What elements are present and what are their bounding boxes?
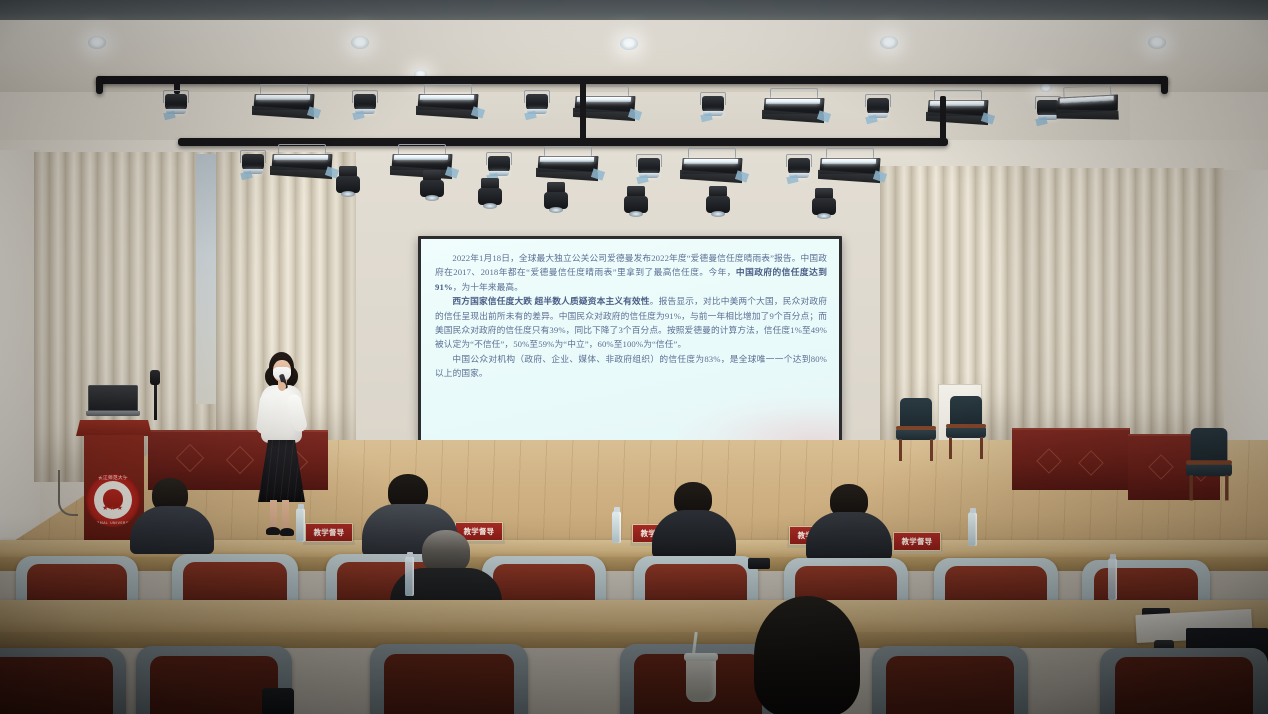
nameplate-stand bbox=[891, 551, 943, 554]
audience-member bbox=[806, 484, 892, 554]
slide-surface: 2022年1月18日，全球最大独立公关公司爱德曼发布2022年度“爱德曼信任度晴… bbox=[421, 239, 839, 441]
slide-paragraph: 2022年1月18日，全球最大独立公关公司爱德曼发布2022年度“爱德曼信任度晴… bbox=[435, 251, 827, 294]
nameplate-label: 教学督导 bbox=[314, 527, 345, 538]
flood-light-fixture bbox=[682, 152, 742, 182]
moving-head-fixture bbox=[812, 188, 836, 222]
spot-light-fixture bbox=[524, 88, 550, 118]
flood-light-fixture bbox=[820, 152, 880, 182]
downlight-icon bbox=[620, 37, 638, 50]
slide-text-run: 中国公众对机构（政府、企业、媒体、非政府组织）的信任度为83%，是全球唯一一个达… bbox=[435, 354, 827, 378]
water-bottle[interactable] bbox=[296, 508, 305, 542]
presenter-left-leg bbox=[270, 500, 277, 530]
downlight-icon bbox=[1040, 83, 1052, 92]
presenter-right-leg bbox=[282, 500, 289, 530]
presenter-left-shoe bbox=[266, 527, 280, 535]
foreground-attendee bbox=[726, 596, 886, 714]
podium-cable bbox=[58, 470, 78, 516]
water-bottle[interactable] bbox=[405, 556, 414, 596]
downlight-icon bbox=[1148, 36, 1166, 49]
presenter-hand bbox=[278, 382, 286, 391]
truss-riser bbox=[940, 96, 946, 142]
curtain-panel bbox=[1024, 168, 1224, 458]
spot-light-fixture bbox=[240, 148, 266, 178]
spot-light-fixture bbox=[700, 90, 726, 120]
audience-member bbox=[130, 478, 214, 550]
auditorium-seat[interactable] bbox=[0, 648, 126, 714]
flood-light-fixture bbox=[764, 92, 824, 122]
laptop-keyboard[interactable] bbox=[86, 411, 140, 416]
podium-top-surface bbox=[76, 420, 152, 436]
truss-riser bbox=[580, 82, 586, 140]
flood-light-fixture bbox=[254, 88, 314, 118]
truss-bar-upper bbox=[96, 76, 1168, 84]
flood-light-fixture bbox=[928, 94, 988, 124]
emblem-inner-disc: ★★★ bbox=[94, 481, 132, 519]
downlight-icon bbox=[351, 36, 369, 49]
audience-torso bbox=[806, 512, 892, 560]
spot-light-fixture bbox=[636, 152, 662, 182]
cup-lid bbox=[684, 653, 718, 661]
truss-end-left bbox=[96, 76, 103, 94]
nameplate-label: 教学督导 bbox=[902, 536, 933, 547]
moving-head-fixture bbox=[624, 186, 648, 220]
spot-light-fixture bbox=[163, 88, 189, 118]
auditorium-seat[interactable] bbox=[1100, 648, 1268, 714]
spot-light-fixture bbox=[352, 88, 378, 118]
flood-light-fixture bbox=[538, 150, 598, 180]
truss-end-right bbox=[1161, 76, 1168, 94]
water-bottle[interactable] bbox=[612, 511, 621, 543]
thermos-flask[interactable] bbox=[262, 688, 294, 714]
spot-light-fixture bbox=[786, 152, 812, 182]
slide-text-body: 2022年1月18日，全球最大独立公关公司爱德曼发布2022年度“爱德曼信任度晴… bbox=[435, 251, 827, 381]
laptop-screen bbox=[88, 385, 138, 411]
audience-torso bbox=[130, 506, 214, 554]
spot-light-fixture bbox=[865, 92, 891, 122]
moving-head-fixture bbox=[544, 182, 568, 216]
smartphone[interactable] bbox=[748, 558, 770, 569]
nameplate-stand bbox=[303, 542, 355, 545]
moving-head-fixture bbox=[336, 166, 360, 200]
audience-member bbox=[652, 482, 736, 552]
microphone-icon bbox=[150, 370, 160, 385]
projection-screen: 2022年1月18日，全球最大独立公关公司爱德曼发布2022年度“爱德曼信任度晴… bbox=[418, 236, 842, 444]
auditorium-seat[interactable] bbox=[370, 644, 528, 714]
moving-head-fixture bbox=[706, 186, 730, 220]
desk-nameplate: 教学督导 bbox=[893, 532, 941, 551]
water-bottle[interactable] bbox=[968, 512, 977, 546]
attendee-hair bbox=[754, 596, 860, 714]
slide-text-bold: 西方国家信任度大跌 超半数人质疑资本主义有效性 bbox=[452, 296, 649, 306]
emblem-stars-icon: ★★★ bbox=[102, 504, 124, 512]
slide-paragraph: 西方国家信任度大跌 超半数人质疑资本主义有效性。报告显示，对比中美两个大国，民众… bbox=[435, 294, 827, 352]
presenter-skirt bbox=[258, 440, 305, 502]
downlight-icon bbox=[880, 36, 898, 49]
stage-front-panel bbox=[1012, 428, 1130, 490]
desk-nameplate: 教学督导 bbox=[305, 523, 353, 542]
audience-torso bbox=[652, 510, 736, 558]
lecture-hall-photo: 2022年1月18日，全球最大独立公关公司爱德曼发布2022年度“爱德曼信任度晴… bbox=[0, 0, 1268, 714]
moving-head-fixture bbox=[478, 178, 502, 212]
middle-desk-row bbox=[0, 600, 1268, 634]
flood-light-fixture bbox=[1057, 88, 1118, 121]
slide-text-run: ，为十年来最高。 bbox=[453, 282, 523, 292]
flood-light-fixture bbox=[418, 88, 478, 118]
laptop[interactable] bbox=[86, 385, 140, 421]
water-bottle[interactable] bbox=[1108, 558, 1117, 600]
slide-paragraph: 中国公众对机构（政府、企业、媒体、非政府组织）的信任度为83%，是全球唯一一个达… bbox=[435, 352, 827, 381]
ceiling-upper-band bbox=[0, 0, 1268, 22]
flood-light-fixture bbox=[272, 148, 332, 178]
spot-light-fixture bbox=[486, 150, 512, 180]
auditorium-seat[interactable] bbox=[872, 646, 1028, 714]
downlight-icon bbox=[88, 36, 106, 49]
drink-cup[interactable] bbox=[686, 658, 716, 702]
moving-head-fixture bbox=[420, 170, 444, 204]
presenter-right-shoe bbox=[280, 528, 294, 536]
